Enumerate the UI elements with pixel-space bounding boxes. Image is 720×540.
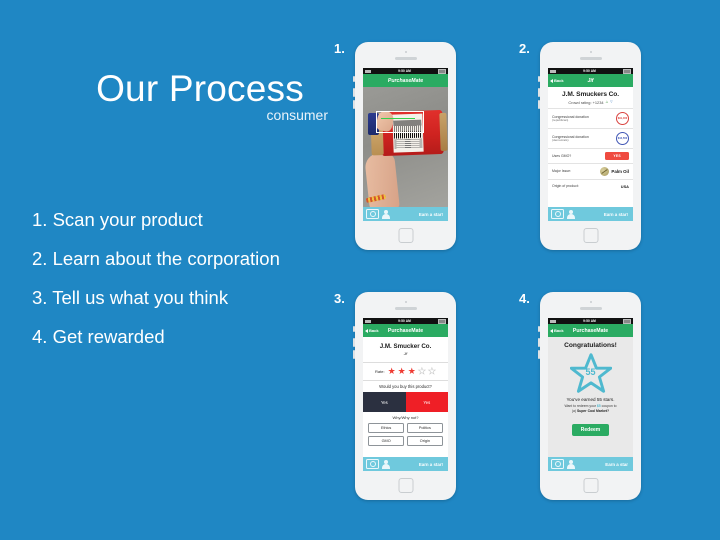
mute-switch bbox=[538, 76, 540, 82]
rating-star-3[interactable]: ★ bbox=[408, 367, 416, 376]
app-title-2: Jif bbox=[587, 78, 593, 84]
why-options-grid: Ethics Politics GMO Origin bbox=[368, 423, 443, 446]
earpiece-speaker bbox=[580, 307, 602, 310]
title-block: Our Process consumer bbox=[50, 70, 350, 123]
bottom-toolbar-4: Earn a star bbox=[548, 457, 633, 471]
back-label-4: Back bbox=[554, 328, 564, 333]
nav-bar-3: Back PurchaseMate bbox=[363, 324, 448, 337]
why-section: Why/Why not? Ethics Politics GMO Origin bbox=[363, 412, 448, 450]
nav-bar-4: Back PurchaseMate bbox=[548, 324, 633, 337]
table-row[interactable]: Uses GMO? YES bbox=[548, 148, 633, 163]
crowd-rating-row: Crowd rating: +1234 ▵ ▿ bbox=[551, 100, 630, 105]
rating-star-2[interactable]: ★ bbox=[398, 367, 406, 376]
redeem-prompt-a: Want to redeem your bbox=[564, 404, 596, 408]
phone-mockup-4: 9:50 AM Back PurchaseMate Congratulation… bbox=[540, 292, 641, 500]
reward-panel: Congratulations! 55 You've earned 55 sta… bbox=[548, 337, 633, 457]
phone-mockup-2: 9:50 AM Back Jif J.M. Smuckers Co. Crowd… bbox=[540, 42, 641, 250]
step-item-1: 1. Scan your product bbox=[32, 208, 362, 233]
camera-viewfinder[interactable] bbox=[363, 87, 448, 207]
donation-republican-badge: $91,400 bbox=[616, 112, 629, 125]
step-item-2: 2. Learn about the corporation bbox=[32, 247, 362, 272]
phone-mockup-3: 9:50 AM Back PurchaseMate J.M. Smucker C… bbox=[355, 292, 456, 500]
company-name-3: J.M. Smucker Co. bbox=[365, 343, 446, 350]
row-label: Origin of product: bbox=[552, 184, 579, 188]
barcode-text bbox=[394, 139, 422, 149]
why-option-ethics[interactable]: Ethics bbox=[368, 423, 404, 433]
earn-star-label-1[interactable]: Earn a star! bbox=[419, 212, 445, 217]
crowd-rating-label: Crowd rating: +1234 bbox=[568, 100, 603, 105]
product-header-3: J.M. Smucker Co. Jif bbox=[363, 337, 448, 362]
chevron-left-icon bbox=[550, 79, 553, 83]
back-button-4[interactable]: Back bbox=[550, 328, 564, 333]
table-row[interactable]: Congressional donation (republican) $91,… bbox=[548, 108, 633, 128]
vote-up-icon[interactable]: ▵ bbox=[606, 100, 609, 105]
donation-democrat-badge: $16,500 bbox=[616, 132, 629, 145]
back-label-2: Back bbox=[554, 78, 564, 83]
phone-mockup-1: 9:50 AM PurchaseMate bbox=[355, 42, 456, 250]
volume-down-button bbox=[353, 100, 355, 109]
volume-down-button bbox=[538, 100, 540, 109]
major-issue-value: Palm Oil bbox=[600, 167, 629, 176]
front-camera-icon bbox=[405, 301, 407, 303]
volume-down-button bbox=[538, 350, 540, 359]
signal-icon bbox=[550, 70, 556, 73]
page-title: Our Process bbox=[50, 70, 350, 109]
front-camera-icon bbox=[590, 301, 592, 303]
step-item-4: 4. Get rewarded bbox=[32, 325, 362, 350]
earpiece-speaker bbox=[395, 57, 417, 60]
reward-star-icon: 55 bbox=[570, 353, 612, 393]
phone-badge-4: 4. bbox=[519, 291, 530, 306]
rate-label: Rate: bbox=[375, 369, 385, 374]
page-subtitle: consumer bbox=[50, 107, 350, 123]
phone-screen-1: 9:50 AM PurchaseMate bbox=[363, 68, 448, 221]
star-count-value: 55 bbox=[570, 367, 612, 377]
scan-frame-overlay bbox=[376, 111, 424, 133]
volume-up-button bbox=[353, 88, 355, 97]
step-item-3: 3. Tell us what you think bbox=[32, 286, 362, 311]
profile-icon[interactable] bbox=[382, 460, 390, 469]
earned-stars-text: You've earned 55 stars. bbox=[567, 397, 615, 402]
app-title-3: PurchaseMate bbox=[388, 328, 423, 334]
status-time-1: 9:50 AM bbox=[398, 69, 411, 73]
star-rating-control[interactable]: Rate: ★ ★ ★ ★ ★ bbox=[363, 362, 448, 381]
table-row[interactable]: Major Issue: Palm Oil bbox=[548, 163, 633, 179]
congratulations-heading: Congratulations! bbox=[564, 342, 617, 349]
battery-icon bbox=[623, 319, 631, 324]
purchase-question: Would you buy this product? bbox=[363, 381, 448, 392]
profile-icon[interactable] bbox=[567, 210, 575, 219]
back-label-3: Back bbox=[369, 328, 379, 333]
status-time-3: 9:50 AM bbox=[398, 319, 411, 323]
steps-list: 1. Scan your product 2. Learn about the … bbox=[32, 208, 362, 364]
mute-switch bbox=[353, 326, 355, 332]
redeem-button[interactable]: Redeem bbox=[572, 424, 609, 436]
why-option-gmo[interactable]: GMO bbox=[368, 436, 404, 446]
battery-icon bbox=[438, 69, 446, 74]
vote-down-icon[interactable]: ▿ bbox=[610, 100, 613, 105]
rating-star-4[interactable]: ★ bbox=[418, 367, 426, 376]
redeem-prompt-text: Want to redeem your $5 coupon to (a) Sup… bbox=[564, 404, 616, 414]
mute-switch bbox=[353, 76, 355, 82]
no-palm-oil-icon bbox=[600, 167, 609, 176]
signal-icon bbox=[365, 70, 371, 73]
camera-icon[interactable] bbox=[366, 459, 379, 469]
home-button[interactable] bbox=[583, 478, 598, 493]
profile-icon[interactable] bbox=[382, 210, 390, 219]
origin-value: USA bbox=[621, 184, 629, 189]
phone-screen-2: 9:50 AM Back Jif J.M. Smuckers Co. Crowd… bbox=[548, 68, 633, 221]
brand-name-3: Jif bbox=[365, 352, 446, 356]
company-header: J.M. Smuckers Co. Crowd rating: +1234 ▵ … bbox=[548, 87, 633, 108]
row-label: Major Issue: bbox=[552, 169, 571, 173]
battery-icon bbox=[438, 319, 446, 324]
earpiece-speaker bbox=[395, 307, 417, 310]
table-row[interactable]: Congressional donation (democrats) $16,5… bbox=[548, 128, 633, 148]
camera-icon[interactable] bbox=[551, 459, 564, 469]
gmo-status-badge: YES bbox=[605, 152, 629, 160]
answer-yes-button[interactable]: Yes bbox=[363, 392, 406, 412]
home-button[interactable] bbox=[398, 478, 413, 493]
phone-badge-2: 2. bbox=[519, 41, 530, 56]
jar-cap bbox=[439, 113, 447, 151]
battery-icon bbox=[623, 69, 631, 74]
app-title-4: PurchaseMate bbox=[573, 328, 608, 334]
back-button-3[interactable]: Back bbox=[365, 328, 379, 333]
scan-line-overlay bbox=[381, 118, 415, 119]
earpiece-speaker bbox=[580, 57, 602, 60]
chevron-left-icon bbox=[550, 329, 553, 333]
earn-star-label-3[interactable]: Earn a star! bbox=[419, 462, 445, 467]
row-label: Uses GMO? bbox=[552, 154, 571, 158]
bottom-toolbar-2: Earn a star! bbox=[548, 207, 633, 221]
signal-icon bbox=[365, 320, 371, 323]
profile-icon[interactable] bbox=[567, 460, 575, 469]
back-button-2[interactable]: Back bbox=[550, 78, 564, 83]
app-title-1: PurchaseMate bbox=[388, 78, 423, 84]
status-time-2: 9:50 AM bbox=[583, 69, 596, 73]
answer-no-button[interactable]: Yes bbox=[406, 392, 449, 412]
front-camera-icon bbox=[590, 51, 592, 53]
phone-screen-4: 9:50 AM Back PurchaseMate Congratulation… bbox=[548, 318, 633, 471]
camera-icon[interactable] bbox=[551, 209, 564, 219]
company-name-2: J.M. Smuckers Co. bbox=[551, 91, 630, 98]
home-button[interactable] bbox=[398, 228, 413, 243]
why-option-origin[interactable]: Origin bbox=[407, 436, 443, 446]
yes-no-buttons: Yes Yes bbox=[363, 392, 448, 412]
store-name: Super Cool Market? bbox=[577, 409, 609, 413]
earn-star-label-2[interactable]: Earn a star! bbox=[604, 212, 630, 217]
table-row[interactable]: Origin of product: USA bbox=[548, 179, 633, 192]
chevron-left-icon bbox=[365, 329, 368, 333]
volume-up-button bbox=[538, 88, 540, 97]
signal-icon bbox=[550, 320, 556, 323]
mute-switch bbox=[538, 326, 540, 332]
rating-star-1[interactable]: ★ bbox=[388, 367, 396, 376]
earn-star-label-4[interactable]: Earn a star bbox=[605, 462, 630, 467]
phone-badge-3: 3. bbox=[334, 291, 345, 306]
bottom-toolbar-1: Earn a star! bbox=[363, 207, 448, 221]
volume-up-button bbox=[538, 338, 540, 347]
status-time-4: 9:50 AM bbox=[583, 319, 596, 323]
why-option-politics[interactable]: Politics bbox=[407, 423, 443, 433]
phone-screen-3: 9:50 AM Back PurchaseMate J.M. Smucker C… bbox=[363, 318, 448, 471]
home-button[interactable] bbox=[583, 228, 598, 243]
front-camera-icon bbox=[405, 51, 407, 53]
why-title: Why/Why not? bbox=[368, 415, 443, 420]
redeem-prompt-b: coupon to bbox=[601, 404, 617, 408]
slide-root: Our Process consumer 1. Scan your produc… bbox=[0, 0, 720, 540]
phone-badge-1: 1. bbox=[334, 41, 345, 56]
bottom-toolbar-3: Earn a star! bbox=[363, 457, 448, 471]
nav-bar-2: Back Jif bbox=[548, 74, 633, 87]
row-label: Congressional donation (democrats) bbox=[552, 135, 589, 143]
volume-down-button bbox=[353, 350, 355, 359]
nav-bar-1: PurchaseMate bbox=[363, 74, 448, 87]
row-label: Congressional donation (republican) bbox=[552, 115, 589, 123]
rating-star-5[interactable]: ★ bbox=[428, 367, 436, 376]
volume-up-button bbox=[353, 338, 355, 347]
camera-icon[interactable] bbox=[366, 209, 379, 219]
